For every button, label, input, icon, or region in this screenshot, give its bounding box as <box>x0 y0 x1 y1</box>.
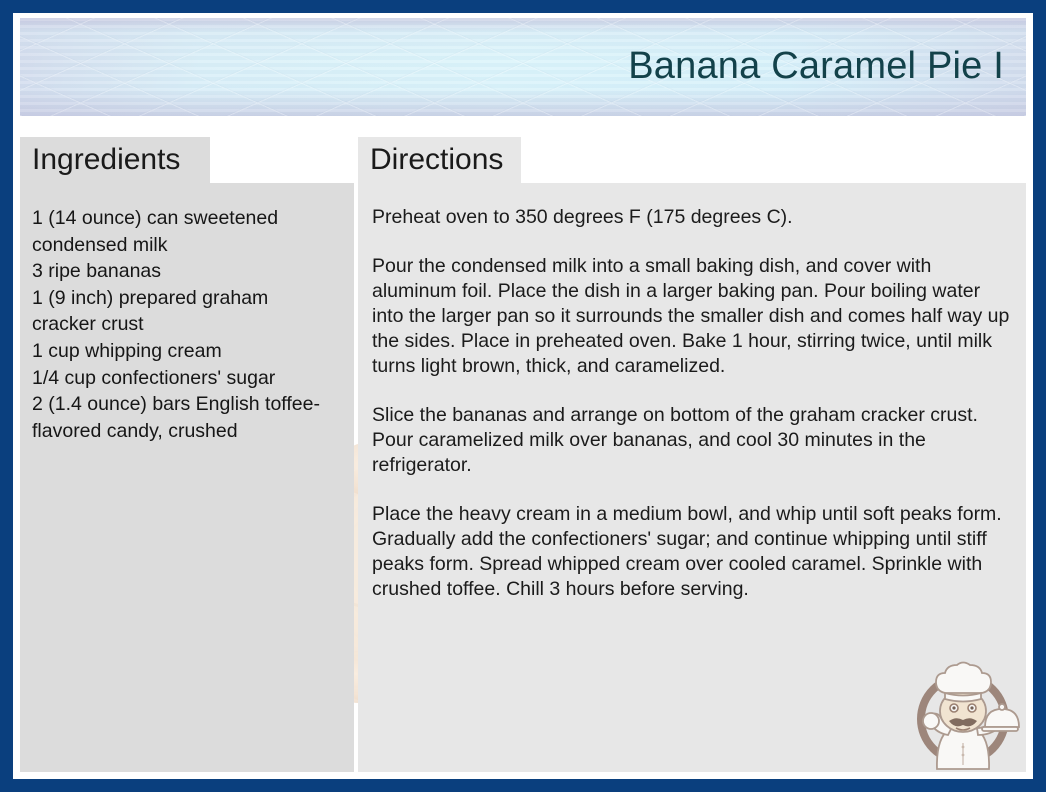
direction-paragraph: Preheat oven to 350 degrees F (175 degre… <box>372 205 1012 230</box>
recipe-card: Banana Caramel Pie I <box>0 0 1046 792</box>
recipe-card-inner: Banana Caramel Pie I <box>13 13 1033 779</box>
directions-heading: Directions <box>370 143 503 177</box>
ingredient-line: 1 (9 inch) prepared graham <box>32 285 340 312</box>
page-title: Banana Caramel Pie I <box>628 46 1004 88</box>
directions-heading-tab: Directions <box>358 137 521 183</box>
ingredients-panel: 1 (14 ounce) can sweetened condensed mil… <box>20 183 354 772</box>
ingredient-line: 3 ripe bananas <box>32 258 340 285</box>
direction-paragraph: Place the heavy cream in a medium bowl, … <box>372 502 1012 602</box>
ingredients-heading-tab: Ingredients <box>20 137 210 183</box>
direction-paragraph: Pour the condensed milk into a small bak… <box>372 254 1012 379</box>
title-banner: Banana Caramel Pie I <box>20 18 1026 116</box>
ingredient-line: cracker crust <box>32 311 340 338</box>
ingredient-line: 1 (14 ounce) can sweetened <box>32 205 340 232</box>
ingredient-line: flavored candy, crushed <box>32 418 340 445</box>
ingredient-line: 2 (1.4 ounce) bars English toffee- <box>32 391 340 418</box>
direction-paragraph: Slice the bananas and arrange on bottom … <box>372 403 1012 478</box>
ingredient-line: condensed milk <box>32 232 340 259</box>
ingredient-line: 1 cup whipping cream <box>32 338 340 365</box>
ingredients-heading: Ingredients <box>32 143 180 177</box>
chef-logo-icon <box>901 651 1025 775</box>
ingredient-line: 1/4 cup confectioners' sugar <box>32 365 340 392</box>
